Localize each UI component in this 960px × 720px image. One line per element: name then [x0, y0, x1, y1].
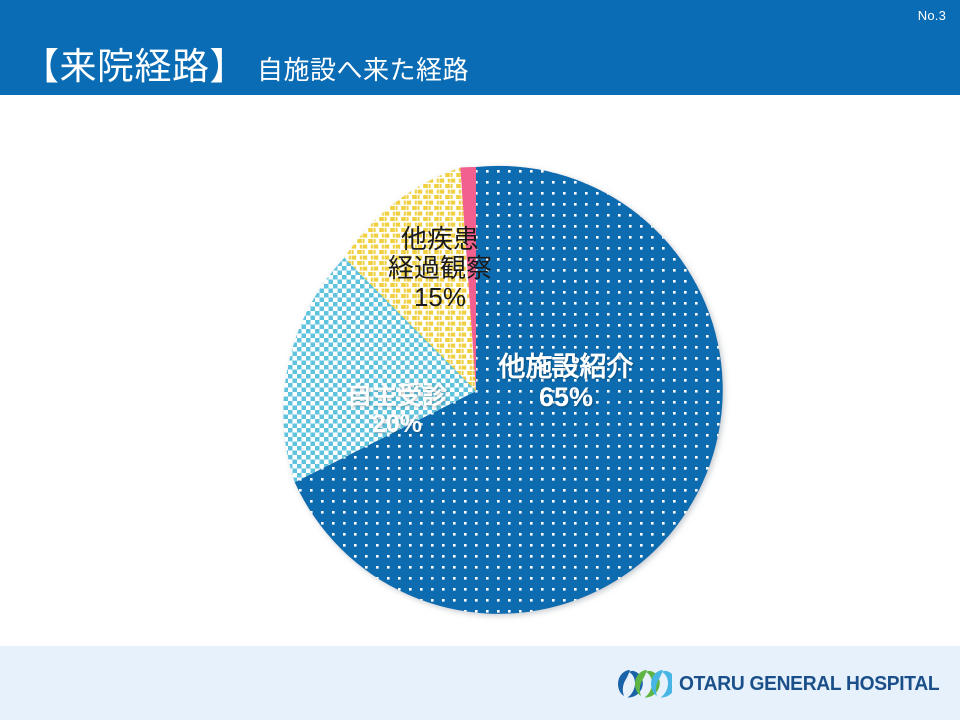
pie-chart: 他施設紹介 65% 自主受診 20% 他疾患 経過観察 15% [252, 167, 700, 615]
pie-slices [283, 166, 722, 614]
page-title: 【来院経路】 自施設へ来た経路 [22, 47, 469, 90]
slide: No.3 【来院経路】 自施設へ来た経路 [0, 0, 960, 720]
pie-chart-svg [252, 167, 700, 615]
header-band: No.3 【来院経路】 自施設へ来た経路 [0, 0, 960, 95]
hospital-logo-mark-icon [616, 667, 672, 701]
hospital-logo-text: OTARU GENERAL HOSPITAL [679, 673, 939, 696]
page-title-sub: 自施設へ来た経路 [257, 50, 469, 90]
hospital-logo: OTARU GENERAL HOSPITAL [616, 664, 950, 704]
chart-area: 他施設紹介 65% 自主受診 20% 他疾患 経過観察 15% [0, 95, 960, 646]
footer-band: OTARU GENERAL HOSPITAL [0, 646, 960, 720]
page-number: No.3 [918, 9, 946, 22]
page-title-main: 【来院経路】 [22, 47, 247, 87]
